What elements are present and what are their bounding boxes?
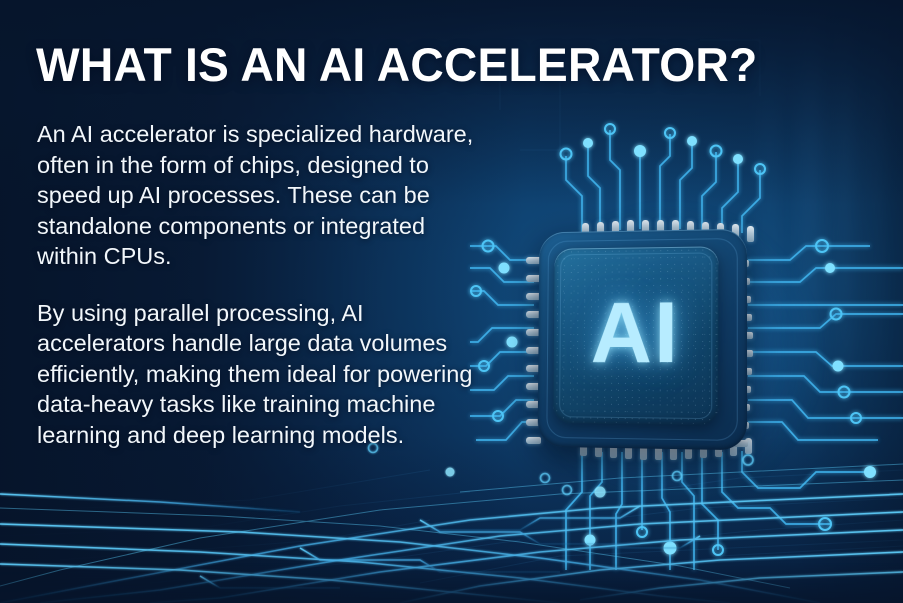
paragraph-1: An AI accelerator is specialized hardwar… bbox=[37, 119, 489, 272]
page-title: WHAT IS AN AI ACCELERATOR? bbox=[36, 40, 862, 89]
infographic-canvas: AI bbox=[0, 0, 903, 603]
paragraph-2: By using parallel processing, AI acceler… bbox=[37, 298, 489, 451]
chip-package: AI bbox=[538, 229, 748, 451]
chip-ai-label: AI bbox=[553, 246, 718, 425]
body-copy: An AI accelerator is specialized hardwar… bbox=[37, 119, 489, 450]
chip-die: AI bbox=[553, 246, 718, 425]
pcb-plane bbox=[0, 428, 903, 603]
